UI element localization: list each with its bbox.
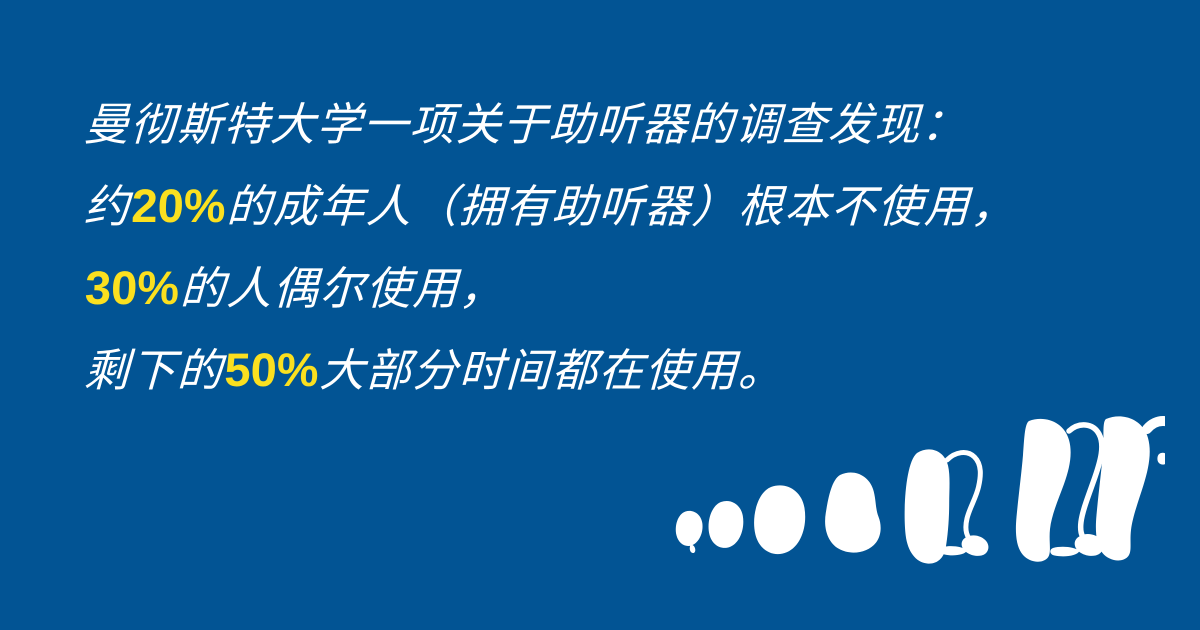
- ric-device-5-icon: [905, 449, 989, 563]
- hearing-aid-illustration: [655, 405, 1165, 590]
- line-2-suffix: 的成年人（拥有助听器）根本不使用，: [226, 180, 1018, 233]
- line-4-suffix: 大部分时间都在使用。: [319, 344, 786, 397]
- stat-never-use-percent: 20%: [129, 165, 228, 246]
- itc-device-3-icon: [754, 485, 805, 554]
- line-4-prefix: 剩下的: [83, 344, 224, 397]
- ite-device-4-icon: [825, 473, 881, 553]
- stat-occasional-use-percent: 30%: [83, 247, 182, 328]
- headline-line-3: 30%的人偶尔使用，: [83, 247, 1126, 329]
- bte-device-7-icon: [1096, 416, 1165, 560]
- poster-canvas: 曼彻斯特大学一项关于助听器的调查发现： 约20%的成年人（拥有助听器）根本不使用…: [0, 0, 1200, 630]
- cic-device-1-icon: [676, 511, 703, 553]
- headline-line-1: 曼彻斯特大学一项关于助听器的调查发现：: [83, 84, 1126, 165]
- ric-device-6-icon: [1016, 419, 1103, 562]
- line-2-prefix: 约: [83, 180, 131, 233]
- line-3-suffix: 的人偶尔使用，: [179, 262, 506, 315]
- statistic-text-block: 曼彻斯特大学一项关于助听器的调查发现： 约20%的成年人（拥有助听器）根本不使用…: [84, 84, 1124, 411]
- headline-line-2: 约20%的成年人（拥有助听器）根本不使用，: [83, 165, 1126, 247]
- cic-device-2-icon: [709, 501, 744, 548]
- line-1-text: 曼彻斯特大学一项关于助听器的调查发现：: [83, 98, 968, 151]
- headline-line-4: 剩下的50%大部分时间都在使用。: [83, 329, 1126, 411]
- stat-most-of-time-percent: 50%: [222, 329, 321, 410]
